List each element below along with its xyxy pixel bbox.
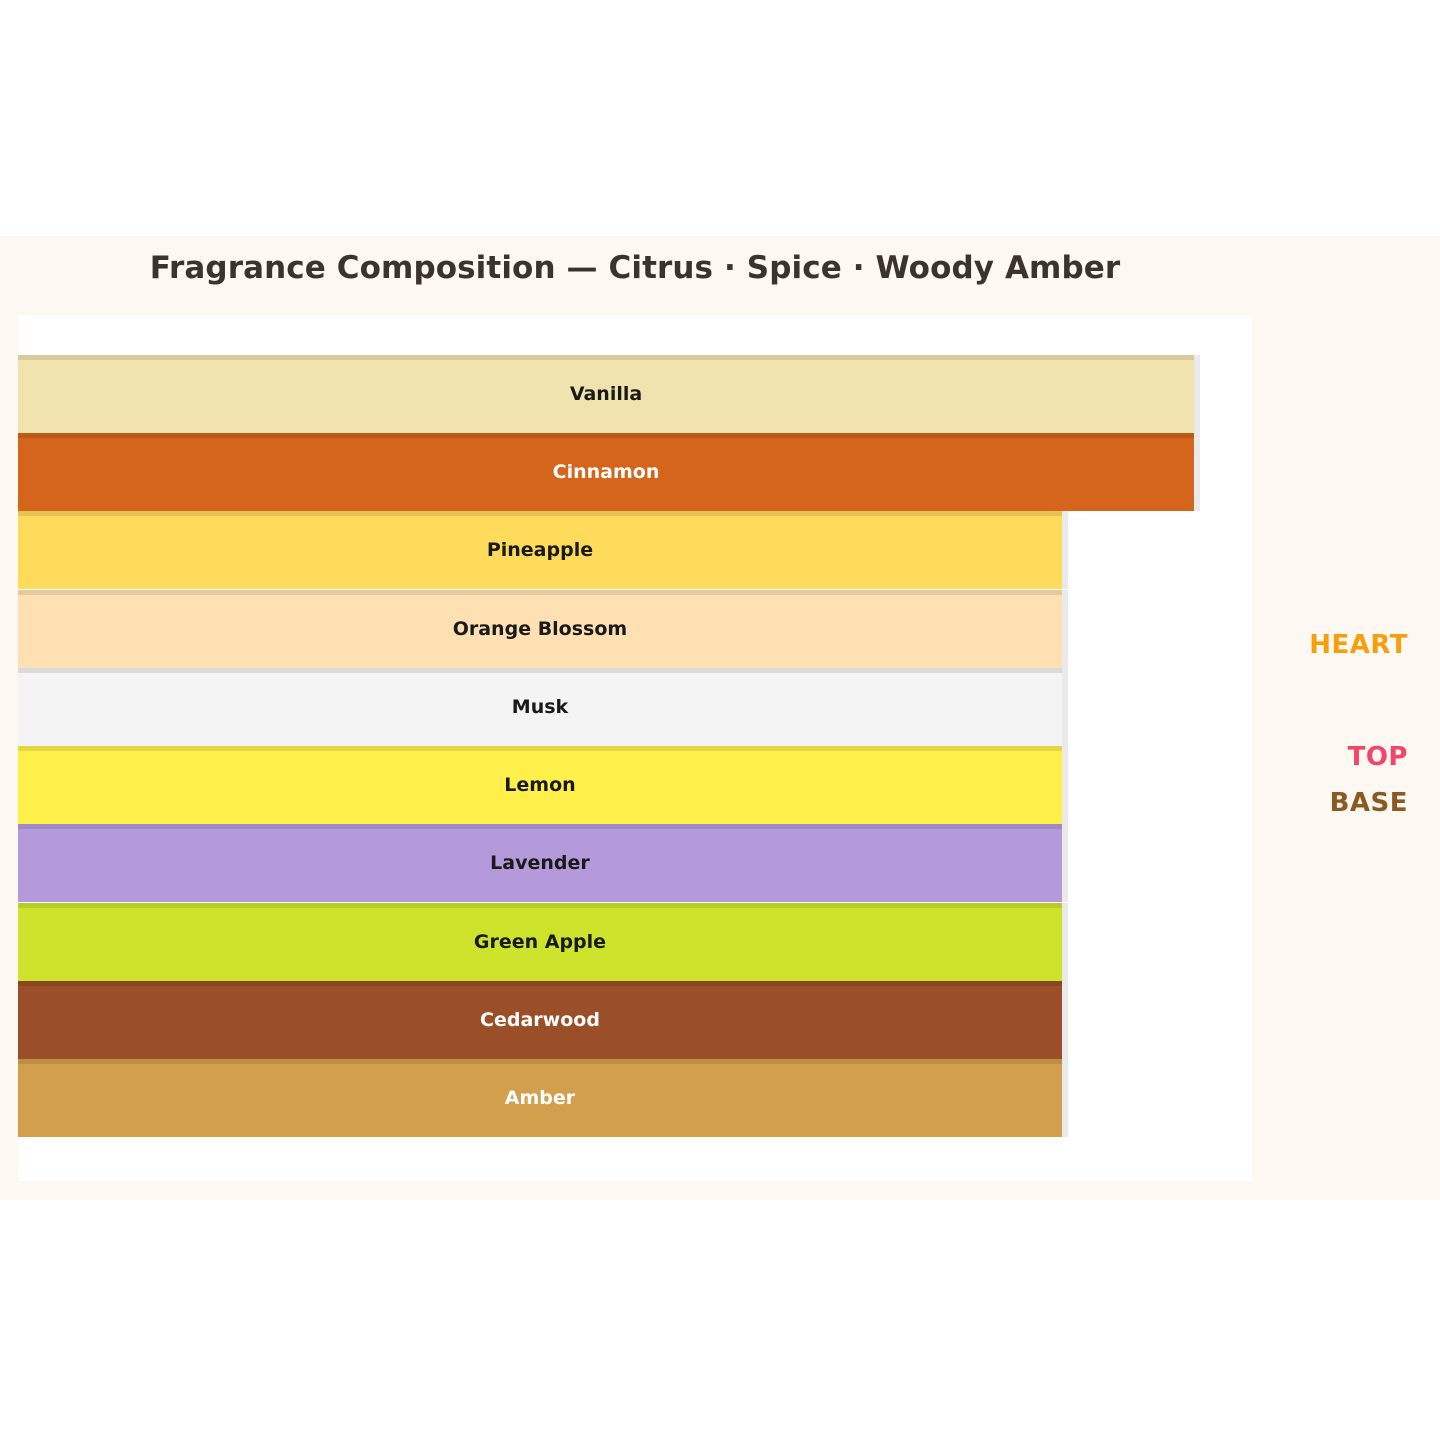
bar-row: Amber [18, 1059, 1252, 1137]
bar-lemon[interactable] [18, 746, 1062, 824]
chart-legend: HEARTTOPBASE [1252, 236, 1440, 1200]
bar-row: Orange Blossom [18, 590, 1252, 668]
legend-entry-top[interactable]: TOP [1348, 742, 1408, 772]
bar-row: Lemon [18, 746, 1252, 824]
legend-entry-heart[interactable]: HEART [1309, 630, 1408, 660]
bar-top-edge [18, 981, 1062, 986]
bar-pineapple[interactable] [18, 511, 1062, 589]
bar-top-edge [18, 511, 1062, 516]
bar-top-edge [18, 824, 1062, 829]
bar-row: Pineapple [18, 511, 1252, 589]
bar-row: Vanilla [18, 355, 1252, 433]
bar-cinnamon[interactable] [18, 433, 1194, 511]
chart-canvas: Fragrance Composition — Citrus · Spice ·… [0, 0, 1440, 1440]
chart-title: Fragrance Composition — Citrus · Spice ·… [18, 250, 1252, 286]
bar-row: Cedarwood [18, 981, 1252, 1059]
figure-region: Fragrance Composition — Citrus · Spice ·… [0, 236, 1440, 1200]
bar-orange-blossom[interactable] [18, 590, 1062, 668]
bar-green-apple[interactable] [18, 903, 1062, 981]
bar-row: Green Apple [18, 903, 1252, 981]
bar-top-edge [18, 355, 1194, 360]
bar-cedarwood[interactable] [18, 981, 1062, 1059]
bar-row: Musk [18, 668, 1252, 746]
bar-top-edge [18, 433, 1194, 438]
bar-amber[interactable] [18, 1059, 1062, 1137]
bar-top-edge [18, 1059, 1062, 1064]
plot-panel: VanillaCinnamonPineappleOrange BlossomMu… [18, 315, 1252, 1181]
bar-vanilla[interactable] [18, 355, 1194, 433]
bar-lavender[interactable] [18, 824, 1062, 902]
bar-top-edge [18, 590, 1062, 595]
bar-top-edge [18, 668, 1062, 673]
bar-row: Lavender [18, 824, 1252, 902]
bar-row: Cinnamon [18, 433, 1252, 511]
bar-musk[interactable] [18, 668, 1062, 746]
bar-top-edge [18, 746, 1062, 751]
bar-top-edge [18, 903, 1062, 908]
legend-entry-base[interactable]: BASE [1330, 788, 1408, 818]
